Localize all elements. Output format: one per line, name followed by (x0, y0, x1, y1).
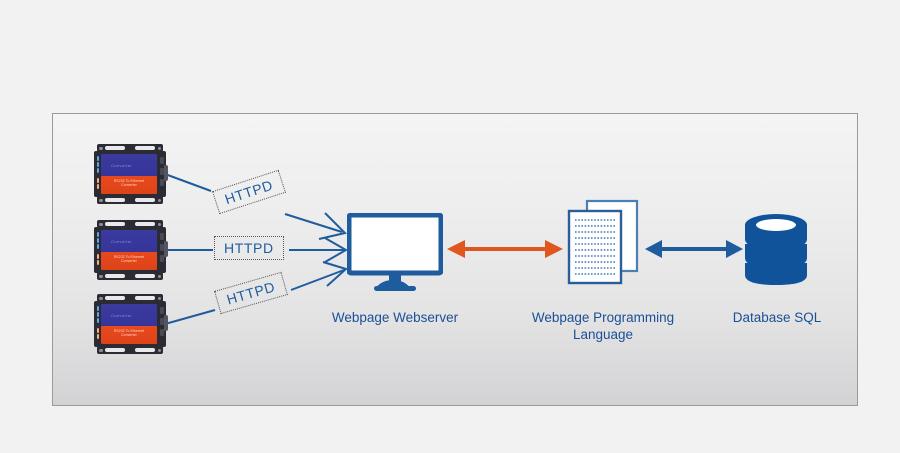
led-indicator-icon (97, 334, 100, 339)
led-indicator-icon (97, 178, 100, 183)
device-brand-text: Converter (111, 239, 132, 244)
monitor-icon[interactable] (347, 213, 443, 291)
device-chassis: Converter RS232 To Ethernet Converter (94, 301, 166, 347)
device-converter-3[interactable]: Converter RS232 To Ethernet Converter (91, 294, 169, 354)
mounting-bracket-bottom-icon (97, 346, 163, 354)
node-label-webserver: Webpage Webserver (315, 309, 475, 326)
mounting-bracket-bottom-icon (97, 196, 163, 204)
device-side-connector-icon (164, 315, 168, 331)
led-indicator-icon (97, 318, 100, 323)
led-indicator-icon (97, 238, 100, 243)
led-indicator-icon (97, 232, 100, 237)
led-indicator-icon (97, 244, 100, 249)
device-lower-panel: RS232 To Ethernet Converter (101, 252, 157, 270)
device-upper-panel: Converter (101, 154, 157, 177)
device-chassis: Converter RS232 To Ethernet Converter (94, 227, 166, 273)
device-converter-1[interactable]: Converter RS232 To Ethernet Converter (91, 144, 169, 204)
device-upper-panel: Converter (101, 304, 157, 327)
port-icon (160, 233, 164, 240)
device-chassis: Converter RS232 To Ethernet Converter (94, 151, 166, 197)
database-icon[interactable] (741, 211, 811, 287)
connector-layer (53, 114, 859, 407)
device-label: RS232 To Ethernet Converter (101, 179, 157, 188)
node-label-database: Database SQL (711, 309, 843, 326)
device-upper-panel: Converter (101, 230, 157, 253)
device-lower-panel: RS232 To Ethernet Converter (101, 326, 157, 344)
documents-icon[interactable] (565, 199, 641, 287)
node-label-programming-language: Webpage Programming Language (515, 309, 691, 343)
port-icon (160, 307, 164, 314)
device-brand-text: Converter (111, 163, 132, 168)
led-indicator-icon (97, 328, 100, 333)
connector-webserver-to-language (447, 240, 563, 258)
led-indicator-icon (97, 168, 100, 173)
led-indicator-icon (97, 306, 100, 311)
port-icon (160, 157, 164, 164)
device-converter-2[interactable]: Converter RS232 To Ethernet Converter (91, 220, 169, 280)
diagram-page: Converter RS232 To Ethernet Converter (0, 0, 900, 453)
protocol-chip-httpd-middle: HTTPD (214, 236, 284, 260)
led-indicator-icon (97, 260, 100, 265)
device-brand-text: Converter (111, 313, 132, 318)
device-side-connector-icon (164, 241, 168, 257)
mounting-bracket-bottom-icon (97, 272, 163, 280)
led-indicator-icon (97, 254, 100, 259)
connector-language-to-database (645, 240, 743, 258)
device-lower-panel: RS232 To Ethernet Converter (101, 176, 157, 194)
device-side-connector-icon (164, 165, 168, 181)
led-indicator-icon (97, 162, 100, 167)
device-label: RS232 To Ethernet Converter (101, 255, 157, 264)
led-indicator-icon (97, 184, 100, 189)
device-label: RS232 To Ethernet Converter (101, 329, 157, 338)
led-indicator-icon (97, 312, 100, 317)
diagram-frame: Converter RS232 To Ethernet Converter (52, 113, 858, 406)
led-indicator-icon (97, 156, 100, 161)
